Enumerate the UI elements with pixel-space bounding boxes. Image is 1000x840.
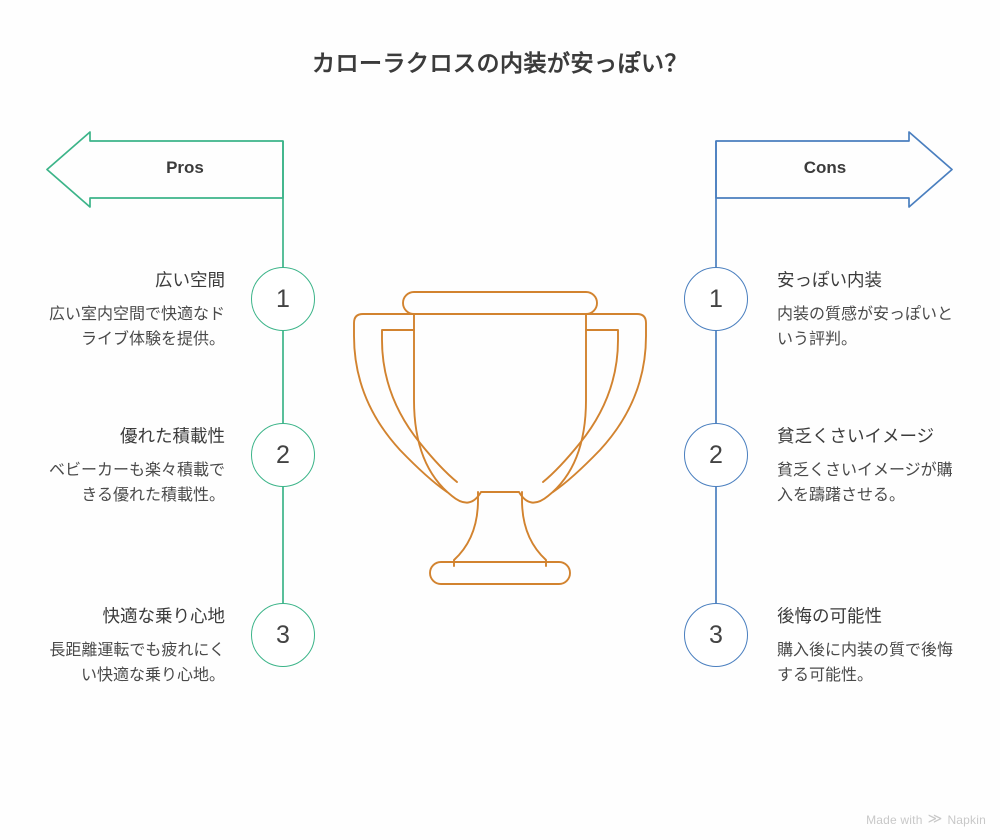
watermark-brand: Napkin [947, 813, 986, 827]
cons-arrow-label: Cons [740, 158, 910, 178]
pros-item-2-heading: 優れた積載性 [42, 423, 225, 449]
pros-item-1-body: 広い室内空間で快適なドライブ体験を提供。 [42, 302, 225, 352]
cons-step-circle-1[interactable]: 1 [684, 267, 748, 331]
cons-item-3-heading: 後悔の可能性 [777, 603, 960, 629]
pros-item-3-heading: 快適な乗り心地 [42, 603, 225, 629]
page-title: カローラクロスの内装が安っぽい？ [0, 44, 1000, 78]
pros-item-2-body: ベビーカーも楽々積載できる優れた積載性。 [42, 458, 225, 508]
pros-step-number-2: 2 [276, 441, 290, 470]
pros-item-3: 快適な乗り心地 長距離運転でも疲れにくい快適な乗り心地。 [42, 603, 225, 688]
napkin-watermark: Made with ≫ Napkin [866, 811, 986, 828]
pros-item-3-body: 長距離運転でも疲れにくい快適な乗り心地。 [42, 638, 225, 688]
pros-item-2: 優れた積載性 ベビーカーも楽々積載できる優れた積載性。 [42, 423, 225, 508]
cons-step-number-3: 3 [709, 621, 723, 650]
cons-item-2-body: 貧乏くさいイメージが購入を躊躇させる。 [777, 458, 960, 508]
trophy-icon [354, 292, 646, 584]
cons-item-1-heading: 安っぽい内装 [777, 267, 960, 293]
cons-step-circle-2[interactable]: 2 [684, 423, 748, 487]
cons-item-2-heading: 貧乏くさいイメージ [777, 423, 960, 449]
pros-step-number-3: 3 [276, 621, 290, 650]
cons-step-number-1: 1 [709, 285, 723, 314]
cons-step-circle-3[interactable]: 3 [684, 603, 748, 667]
watermark-prefix: Made with [866, 813, 923, 827]
diagram-canvas [0, 0, 1000, 840]
napkin-logo-icon: ≫ [928, 810, 943, 827]
pros-item-1: 広い空間 広い室内空間で快適なドライブ体験を提供。 [42, 267, 225, 352]
pros-step-number-1: 1 [276, 285, 290, 314]
pros-step-circle-2[interactable]: 2 [251, 423, 315, 487]
pros-arrow-label: Pros [100, 158, 270, 178]
cons-item-3: 後悔の可能性 購入後に内装の質で後悔する可能性。 [777, 603, 960, 688]
pros-item-1-heading: 広い空間 [42, 267, 225, 293]
cons-item-2: 貧乏くさいイメージ 貧乏くさいイメージが購入を躊躇させる。 [777, 423, 960, 508]
pros-step-circle-3[interactable]: 3 [251, 603, 315, 667]
pros-step-circle-1[interactable]: 1 [251, 267, 315, 331]
cons-item-1: 安っぽい内装 内装の質感が安っぽいという評判。 [777, 267, 960, 352]
cons-item-3-body: 購入後に内装の質で後悔する可能性。 [777, 638, 960, 688]
cons-item-1-body: 内装の質感が安っぽいという評判。 [777, 302, 960, 352]
cons-step-number-2: 2 [709, 441, 723, 470]
